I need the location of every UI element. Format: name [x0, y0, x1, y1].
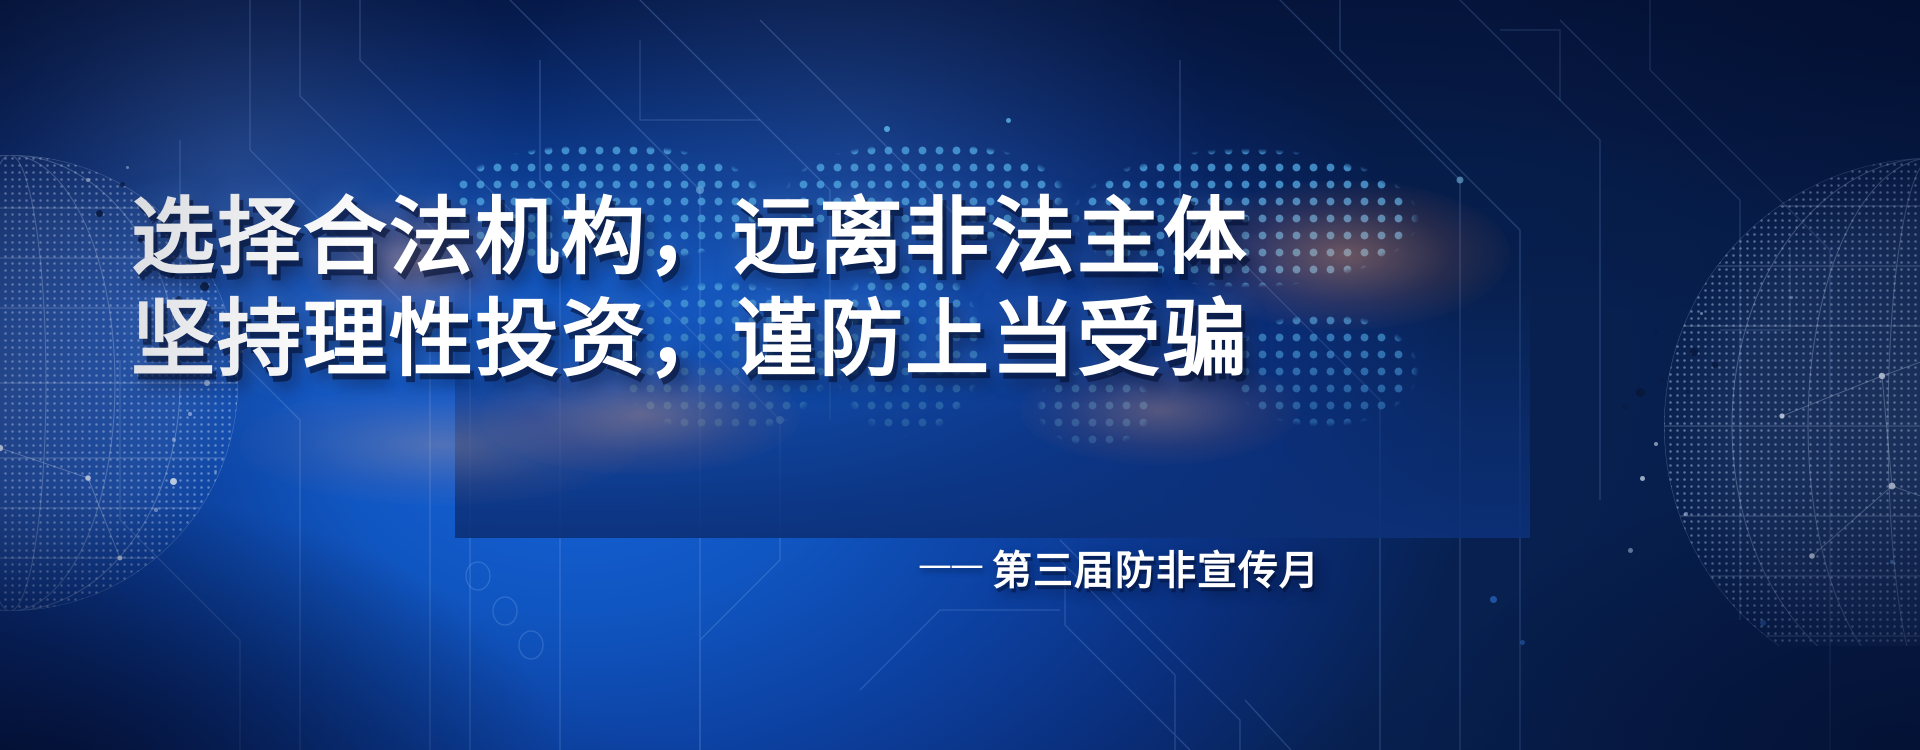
attribution-block: —— 第三届防非宣传月 — [918, 538, 1320, 596]
headline-line-1: 选择合法机构，远离非法主体 — [0, 186, 1380, 288]
attribution-text: 第三届防非宣传月 — [992, 538, 1320, 596]
headline-line-2: 坚持理性投资，谨防上当受骗 — [0, 288, 1380, 390]
promo-banner: 选择合法机构，远离非法主体 坚持理性投资，谨防上当受骗 —— 第三届防非宣传月 — [0, 0, 1920, 750]
attribution-dash: —— — [918, 545, 982, 585]
headline-block: 选择合法机构，远离非法主体 坚持理性投资，谨防上当受骗 — [0, 186, 1380, 390]
